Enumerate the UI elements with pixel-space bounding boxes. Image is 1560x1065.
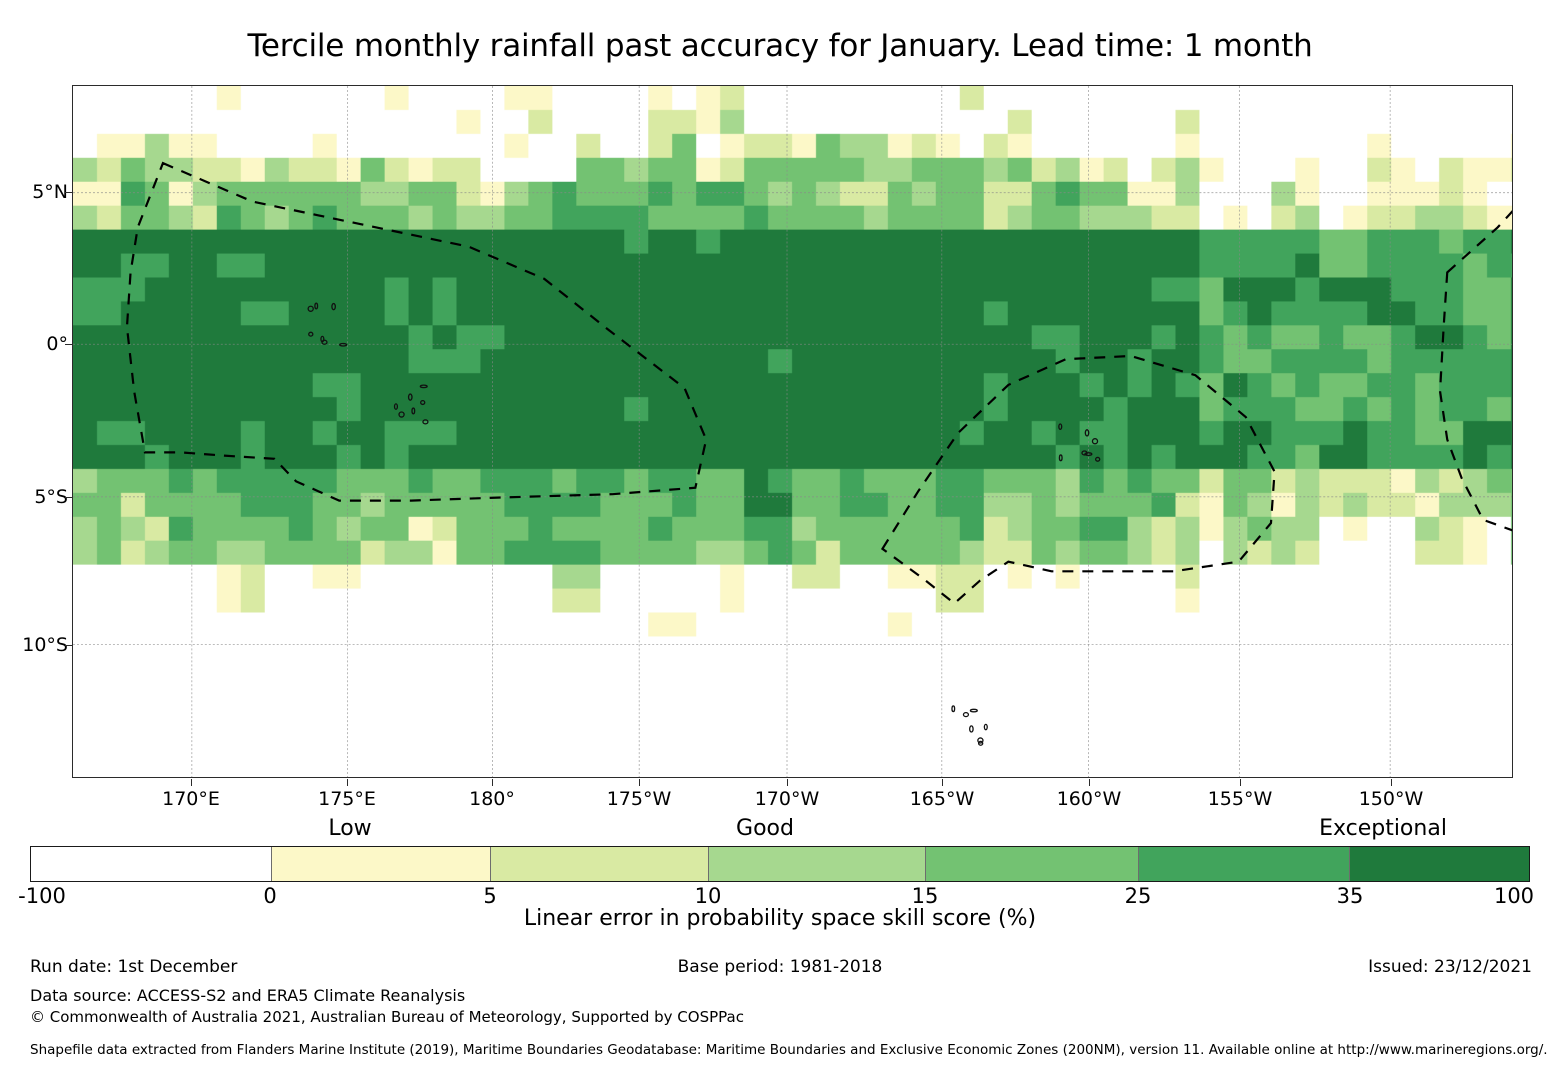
map-plot-area <box>72 85 1513 778</box>
colorbar-segment-6 <box>1349 847 1529 881</box>
xtick-label-2: 180° <box>412 788 572 810</box>
xtick-label-0: 170°E <box>111 788 271 810</box>
ytick-label-0: 5°N <box>0 181 68 203</box>
colorbar <box>30 846 1530 882</box>
xtick-mark-5 <box>942 779 943 786</box>
xtick-label-6: 160°W <box>1009 788 1169 810</box>
colorbar-category-exceptional: Exceptional <box>1223 816 1543 841</box>
colorbar-category-good: Good <box>605 816 925 841</box>
eez-boundary-solomon-islands-png-eez <box>127 163 706 500</box>
ytick-mark-0 <box>65 192 72 193</box>
colorbar-segment-1 <box>271 847 491 881</box>
coastline-solomon-islands <box>308 303 346 346</box>
ytick-mark-1 <box>65 344 72 345</box>
xtick-label-3: 175°W <box>559 788 719 810</box>
xtick-mark-3 <box>639 779 640 786</box>
data-source: Data source: ACCESS-S2 and ERA5 Climate … <box>30 986 465 1005</box>
colorbar-wrap <box>30 846 1530 882</box>
xtick-mark-6 <box>1089 779 1090 786</box>
colorbar-tick-5: 25 <box>1063 884 1213 908</box>
page-title: Tercile monthly rainfall past accuracy f… <box>0 28 1560 64</box>
xtick-mark-0 <box>191 779 192 786</box>
xtick-mark-2 <box>492 779 493 786</box>
shapefile-attribution: Shapefile data extracted from Flanders M… <box>30 1042 1548 1058</box>
xtick-label-7: 155°W <box>1160 788 1320 810</box>
xtick-mark-1 <box>347 779 348 786</box>
colorbar-caption: Linear error in probability space skill … <box>0 906 1560 931</box>
colorbar-segment-4 <box>925 847 1138 881</box>
colorbar-tick-2: 5 <box>415 884 565 908</box>
ytick-label-1: 0° <box>0 333 68 355</box>
map-overlay <box>73 86 1512 777</box>
eez-boundary-layer <box>127 121 1512 764</box>
colorbar-segment-2 <box>490 847 708 881</box>
ytick-label-3: 10°S <box>0 634 68 656</box>
colorbar-tick-0: -100 <box>0 884 117 908</box>
xtick-label-1: 175°E <box>267 788 427 810</box>
issued-date: Issued: 23/12/2021 <box>1368 957 1532 977</box>
colorbar-tick-4: 15 <box>850 884 1000 908</box>
coastline-tuvalu-atolls <box>1059 424 1100 461</box>
eez-boundary-kiribati-phoenix-eez <box>1440 121 1512 532</box>
xtick-mark-4 <box>787 779 788 786</box>
copyright-notice: © Commonwealth of Australia 2021, Austra… <box>30 1008 744 1026</box>
colorbar-tick-1: 0 <box>195 884 345 908</box>
footer-row-primary: Run date: 1st December Base period: 1981… <box>0 957 1560 981</box>
base-period: Base period: 1981-2018 <box>0 957 1560 977</box>
coastline-vanuatu <box>395 385 428 424</box>
ytick-mark-3 <box>65 645 72 646</box>
ytick-mark-2 <box>65 497 72 498</box>
ytick-label-2: 5°S <box>0 486 68 508</box>
colorbar-category-low: Low <box>190 816 510 841</box>
colorbar-tick-7: 100 <box>1439 884 1560 908</box>
xtick-label-4: 170°W <box>707 788 867 810</box>
colorbar-segment-5 <box>1138 847 1350 881</box>
coastline-layer <box>308 303 1512 745</box>
colorbar-segment-0 <box>31 847 271 881</box>
colorbar-tick-6: 35 <box>1275 884 1425 908</box>
colorbar-segment-3 <box>708 847 925 881</box>
colorbar-tick-3: 10 <box>633 884 783 908</box>
eez-boundary-tuvalu-eez <box>882 356 1274 603</box>
xtick-label-8: 150°W <box>1311 788 1471 810</box>
grid-lines <box>73 86 1512 777</box>
xtick-mark-7 <box>1240 779 1241 786</box>
xtick-mark-8 <box>1391 779 1392 786</box>
coastline-samoa <box>952 706 987 745</box>
footer: Run date: 1st December Base period: 1981… <box>0 957 1560 981</box>
xtick-label-5: 165°W <box>862 788 1022 810</box>
